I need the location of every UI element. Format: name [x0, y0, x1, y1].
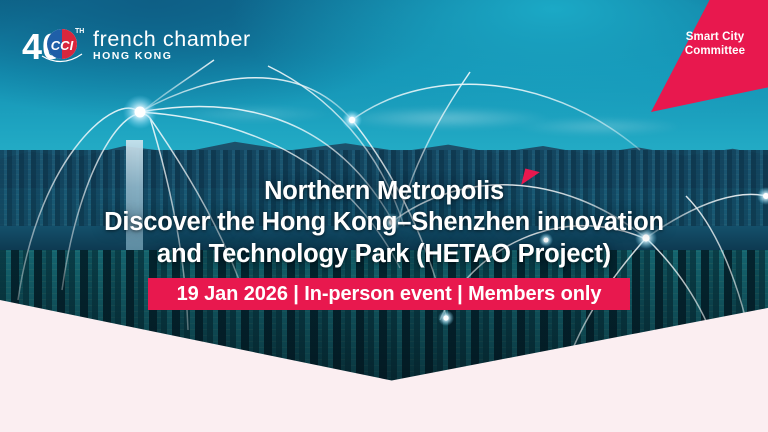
40th-anniversary-mark: 40 CCI TH — [22, 22, 84, 68]
chamber-location: HONG KONG — [93, 50, 251, 64]
event-details-text: 19 Jan 2026 | In-person event | Members … — [177, 283, 602, 306]
badge-line-1: Smart City — [672, 30, 758, 44]
french-chamber-logo: 40 CCI TH french chamber HONG KONG — [22, 22, 251, 68]
badge-line-2: Committee — [672, 44, 758, 58]
smart-city-committee-badge: Smart City Committee — [672, 30, 758, 59]
anniversary-superscript: TH — [75, 28, 84, 35]
cci-roundel-text: CCI — [51, 38, 74, 53]
logo-wordmark: french chamber HONG KONG — [93, 26, 251, 64]
headline-line-2: Discover the Hong Kong–Shenzhen innovati… — [18, 207, 750, 238]
event-headline: Northern Metropolis Discover the Hong Ko… — [0, 176, 768, 270]
chamber-name: french chamber — [93, 28, 251, 51]
headline-line-1: Northern Metropolis — [18, 176, 750, 207]
event-details-bar: 19 Jan 2026 | In-person event | Members … — [148, 278, 630, 310]
anniversary-logo-icon: 40 CCI TH — [22, 22, 84, 68]
event-banner: 40 CCI TH french chamber HONG KONG Smart… — [0, 0, 768, 432]
headline-line-3: and Technology Park (HETAO Project) — [18, 239, 750, 270]
